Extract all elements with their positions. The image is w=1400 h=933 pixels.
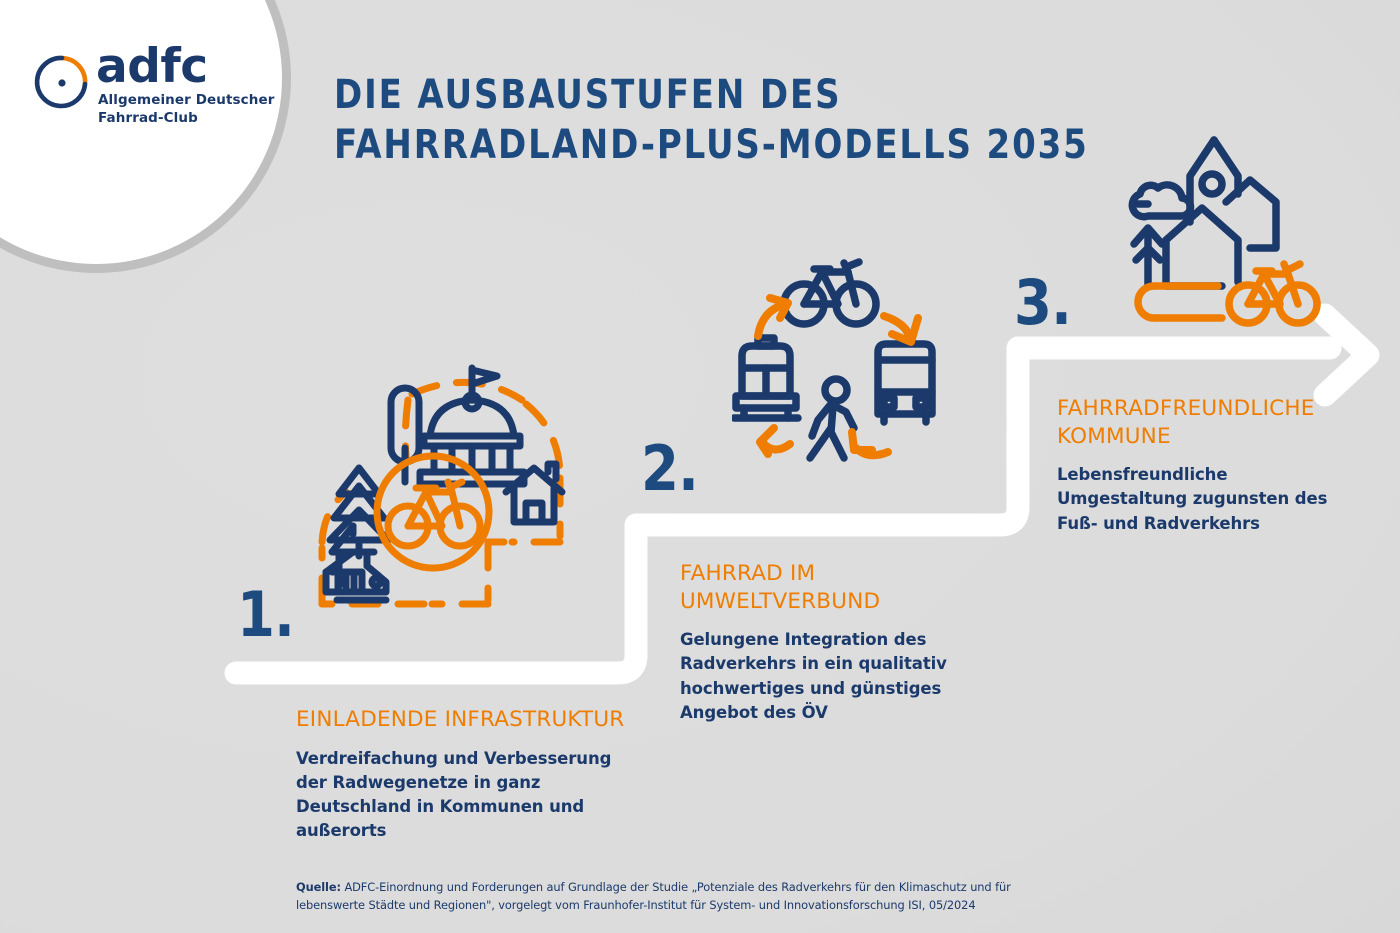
infrastructure-icon bbox=[312, 360, 580, 618]
bicycle-orange-icon bbox=[1229, 264, 1317, 323]
step-2-heading: FAHRRAD IM UMWELTVERBUND bbox=[680, 560, 1020, 615]
bus-icon bbox=[878, 344, 932, 422]
source-label: Quelle: bbox=[296, 880, 341, 894]
step-block-1: EINLADENDE INFRASTRUKTUR Verdreifachung … bbox=[296, 706, 641, 844]
step-3-body: Lebensfreundliche Umgestaltung zugunsten… bbox=[1057, 463, 1357, 536]
step-number-1: 1. bbox=[237, 584, 294, 646]
road-path-icon bbox=[1138, 286, 1222, 318]
source-text: ADFC-Einordnung und Forderungen auf Grun… bbox=[296, 880, 1011, 912]
pedestrian-icon bbox=[810, 379, 854, 458]
source-note: Quelle: ADFC-Einordnung und Forderungen … bbox=[296, 878, 1076, 915]
step-block-2: FAHRRAD IM UMWELTVERBUND Gelungene Integ… bbox=[680, 560, 1020, 725]
step-block-3: FAHRRADFREUNDLICHE KOMMUNE Lebensfreundl… bbox=[1057, 395, 1357, 536]
step-number-3: 3. bbox=[1014, 272, 1071, 334]
adfc-subtitle-line1: Allgemeiner Deutscher bbox=[98, 92, 275, 108]
tram-icon bbox=[734, 338, 798, 418]
step-2-body: Gelungene Integration des Radverkehrs in… bbox=[680, 628, 1020, 725]
step-1-body: Verdreifachung und Verbesserung der Radw… bbox=[296, 747, 641, 844]
adfc-mark-icon bbox=[34, 54, 90, 110]
step-number-2: 2. bbox=[641, 438, 698, 500]
adfc-wordmark: adfc bbox=[96, 43, 208, 90]
bike-friendly-town-icon bbox=[1112, 132, 1340, 330]
tree-icon bbox=[1134, 228, 1162, 286]
adfc-subtitle-line2: Fahrrad-Club bbox=[98, 110, 198, 126]
cloud-icon bbox=[1132, 185, 1190, 217]
step-1-heading: EINLADENDE INFRASTRUKTUR bbox=[296, 706, 641, 734]
bicycle-icon bbox=[784, 262, 876, 324]
mobility-cycle-icon bbox=[732, 256, 978, 482]
infographic-canvas: adfc Allgemeiner Deutscher Fahrrad-Club … bbox=[0, 0, 1400, 933]
step-3-heading: FAHRRADFREUNDLICHE KOMMUNE bbox=[1057, 395, 1357, 450]
